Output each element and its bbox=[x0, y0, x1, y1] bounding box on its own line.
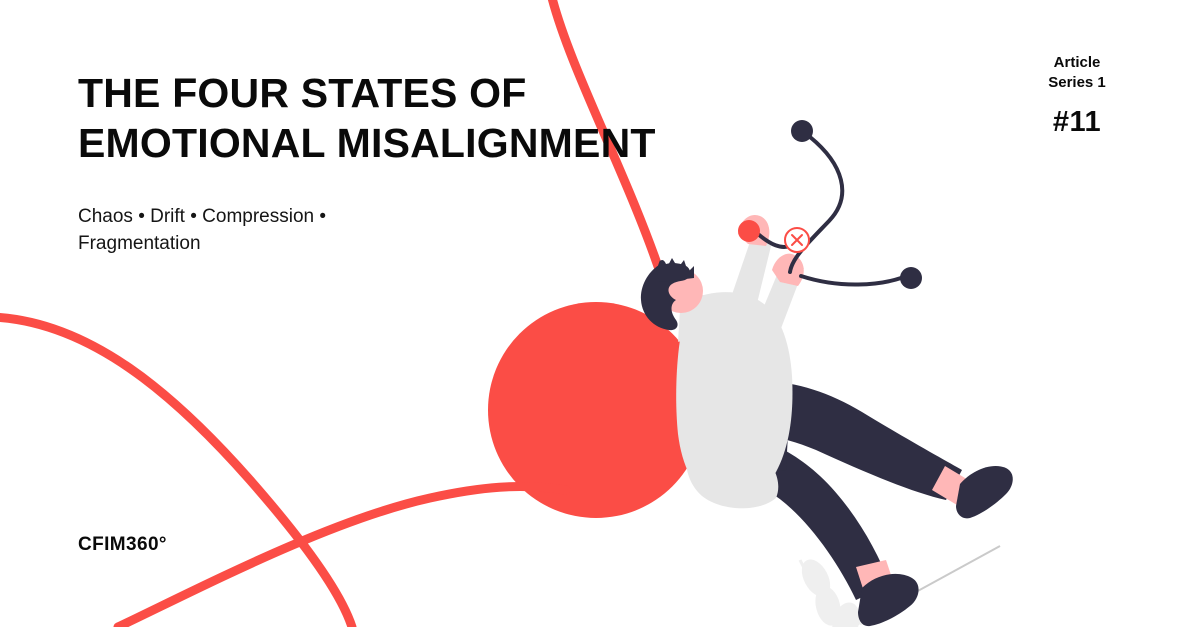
poster-canvas: THE FOUR STATES OF EMOTIONAL MISALIGNMEN… bbox=[0, 0, 1200, 627]
left-red-curve bbox=[0, 317, 352, 627]
node-top-navy-dot bbox=[791, 120, 813, 142]
page-subtitle: Chaos • Drift • Compression • Fragmentat… bbox=[78, 204, 408, 258]
node-right-navy-dot bbox=[900, 267, 922, 289]
wire-right bbox=[801, 276, 901, 285]
node-hand-red-dot bbox=[738, 220, 760, 242]
circled-x-icon bbox=[785, 228, 809, 252]
series-number-badge: #11 bbox=[1012, 106, 1142, 139]
series-block: Article Series 1 #11 bbox=[1012, 53, 1142, 139]
person-figure bbox=[641, 215, 1013, 626]
brand-logo: CFIM360° bbox=[78, 534, 167, 556]
series-label: Article Series 1 bbox=[1012, 53, 1142, 94]
shoe-right bbox=[956, 466, 1013, 518]
title-block: THE FOUR STATES OF EMOTIONAL MISALIGNMEN… bbox=[78, 68, 728, 168]
page-title: THE FOUR STATES OF EMOTIONAL MISALIGNMEN… bbox=[78, 68, 728, 168]
